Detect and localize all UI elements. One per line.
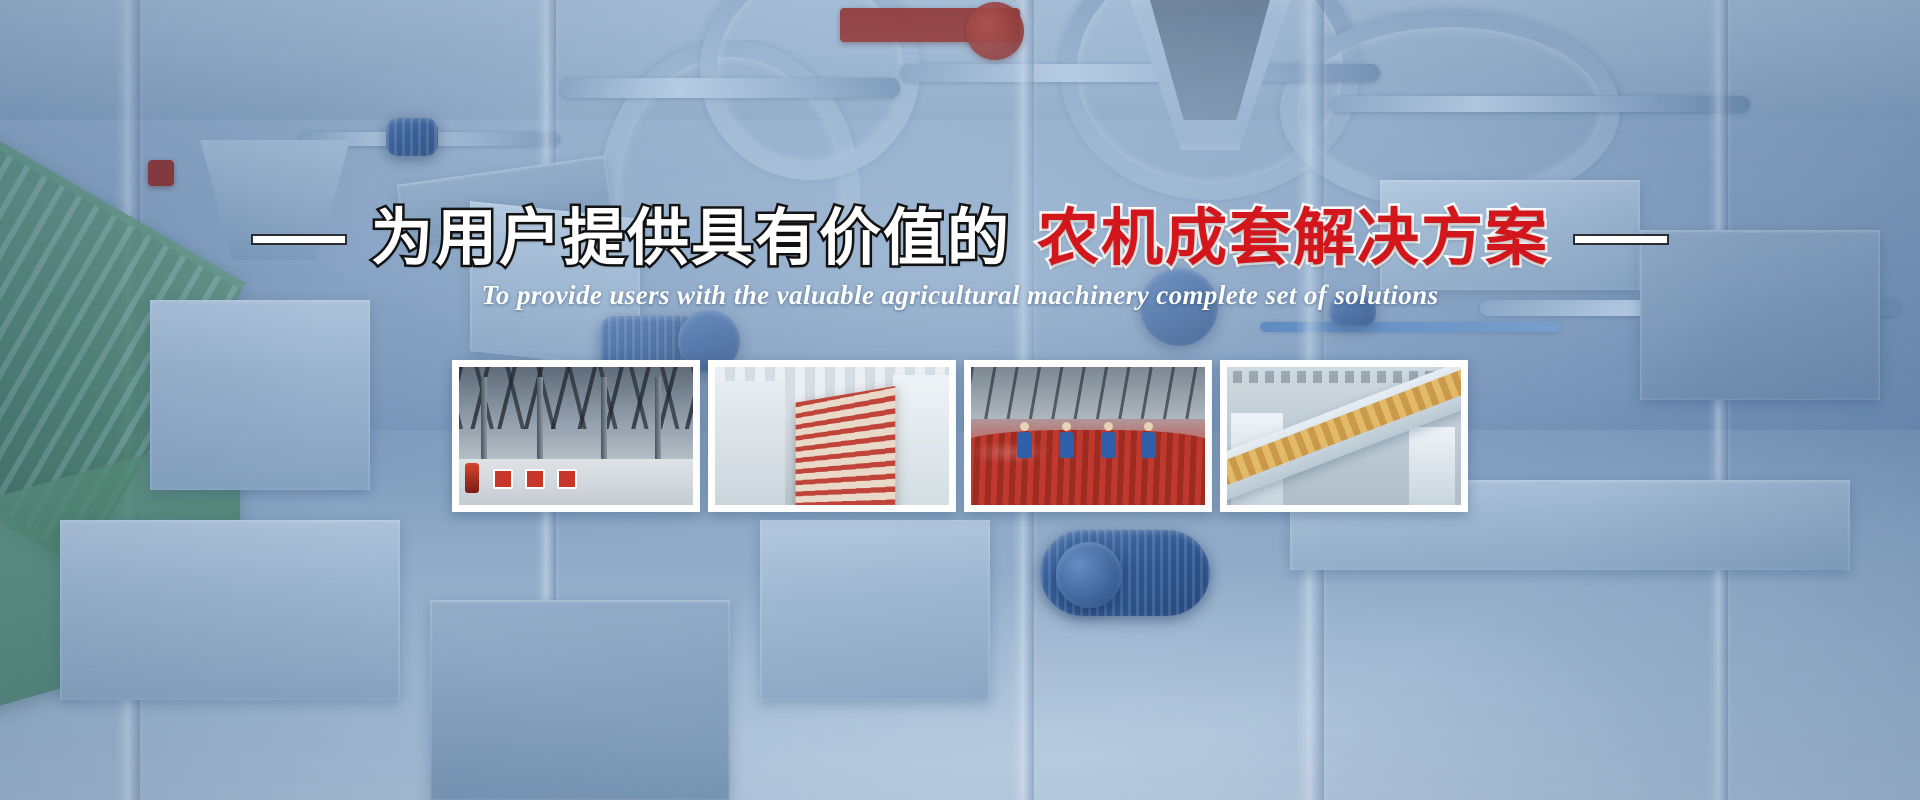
thumbnail-4[interactable] (1220, 360, 1468, 512)
thumbnail-2-image (715, 367, 949, 505)
subtitle: To provide users with the valuable agric… (0, 280, 1920, 311)
headline: 为用户提供具有价值的 农机成套解决方案 (0, 206, 1920, 273)
thumbnail-3[interactable] (964, 360, 1212, 512)
headline-left-rule (253, 236, 345, 243)
hero-banner: 为用户提供具有价值的 农机成套解决方案 To provide users wit… (0, 0, 1920, 800)
thumbnail-strip (452, 360, 1468, 512)
thumbnail-4-image (1227, 367, 1461, 505)
headline-primary-text: 为用户提供具有价值的 (371, 206, 1011, 273)
headline-accent-text: 农机成套解决方案 (1037, 206, 1549, 273)
thumbnail-3-image (971, 367, 1205, 505)
thumbnail-2[interactable] (708, 360, 956, 512)
headline-right-rule (1575, 236, 1667, 243)
thumbnail-1-image (459, 367, 693, 505)
thumbnail-1[interactable] (452, 360, 700, 512)
